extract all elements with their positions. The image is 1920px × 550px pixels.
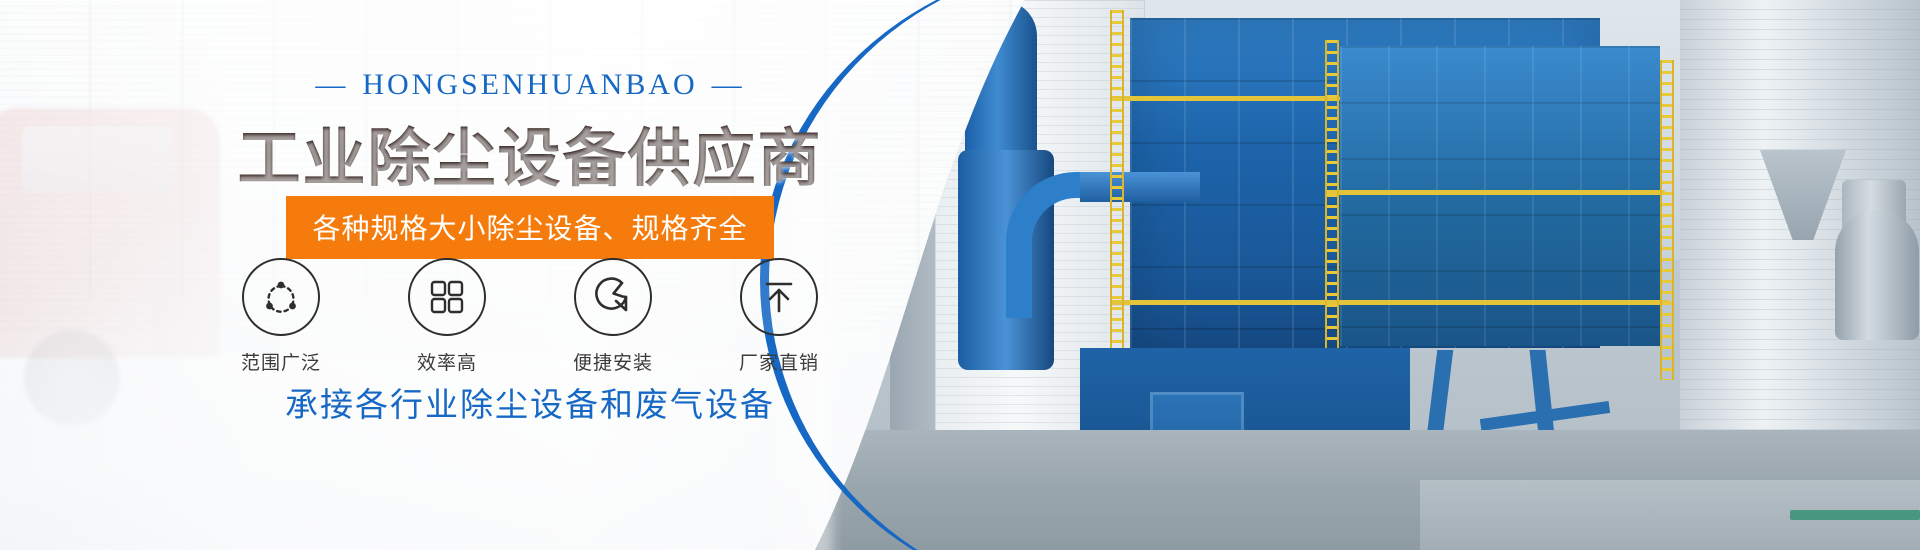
feature-item-wide-range[interactable]: 范围广泛 <box>229 258 333 375</box>
steel-tank <box>1835 210 1919 340</box>
banner-tagline: 承接各行业除尘设备和废气设备 <box>0 378 1060 426</box>
yellow-ladder <box>1325 40 1339 380</box>
feature-list: 范围广泛 效率高 <box>0 258 1060 375</box>
eyebrow-text: HONGSENHUANBAO <box>362 68 697 101</box>
hero-banner: —HONGSENHUANBAO— 工业除尘设备供应商 各种规格大小除尘设备、规格… <box>0 0 1920 550</box>
banner-text-content: —HONGSENHUANBAO— 工业除尘设备供应商 各种规格大小除尘设备、规格… <box>0 0 1120 550</box>
feature-label: 便捷安装 <box>561 348 665 375</box>
subbar-wrapper: 各种规格大小除尘设备、规格齐全 <box>0 196 1060 259</box>
orange-subtitle-bar: 各种规格大小除尘设备、规格齐全 <box>286 196 773 259</box>
feature-item-easy-install[interactable]: 便捷安装 <box>561 258 665 375</box>
yellow-handrail <box>1325 190 1665 195</box>
feature-item-high-efficiency[interactable]: 效率高 <box>395 258 499 375</box>
yellow-handrail <box>1110 96 1340 101</box>
yellow-ladder <box>1660 60 1674 380</box>
eyebrow-line: —HONGSENHUANBAO— <box>0 68 1060 102</box>
feature-label: 范围广泛 <box>229 348 333 375</box>
four-squares-grid-icon <box>408 258 486 336</box>
arrow-up-bar-icon <box>740 258 818 336</box>
green-fence <box>1790 510 1920 520</box>
feature-label: 厂家直销 <box>727 348 831 375</box>
wrench-icon <box>574 258 652 336</box>
dash-right-icon: — <box>712 68 745 102</box>
feature-item-factory-direct[interactable]: 厂家直销 <box>727 258 831 375</box>
dash-left-icon: — <box>315 68 348 102</box>
feature-label: 效率高 <box>395 348 499 375</box>
network-nodes-icon <box>242 258 320 336</box>
yellow-handrail <box>1110 300 1670 305</box>
page-title: 工业除尘设备供应商 <box>0 108 1060 199</box>
